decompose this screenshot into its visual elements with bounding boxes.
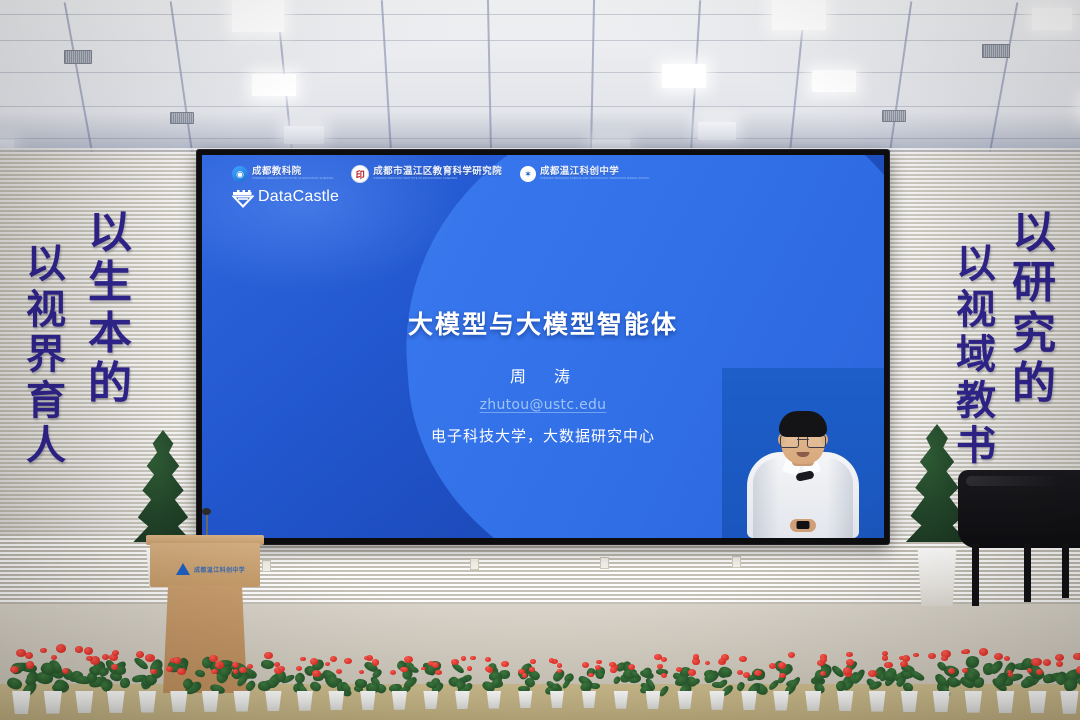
flower-leaf <box>908 668 925 682</box>
potted-flower <box>226 637 257 711</box>
wall-text-right-inner: 以研究的 <box>1012 212 1056 404</box>
flower-bloom <box>84 647 93 654</box>
flower-bloom <box>979 648 989 656</box>
flower-bloom <box>312 670 320 677</box>
flower-pot <box>105 691 127 713</box>
lectern-school-name: 成都温江科创中学 <box>194 565 245 574</box>
flower-pot <box>263 691 283 711</box>
flower-pot <box>803 691 823 711</box>
ceiling-panel-seam <box>0 14 1080 15</box>
flower-pot <box>232 691 253 712</box>
wall-character: 的 <box>1012 363 1056 404</box>
flower-bloom <box>963 649 970 655</box>
organizer-logo: ✶成都温江科创中学CHENGDU WENJIANG SCIENCE AND TE… <box>520 166 650 182</box>
ceiling-light-panel <box>232 0 284 32</box>
speaker-figure <box>740 410 866 538</box>
topiary-planter <box>914 550 960 606</box>
flower-pot <box>422 691 441 710</box>
potted-flower <box>703 641 732 709</box>
flower-bloom <box>485 657 491 662</box>
flower-pot <box>200 691 221 712</box>
potted-flower <box>417 643 445 710</box>
flower-bloom <box>846 652 853 657</box>
potted-flower <box>449 643 476 709</box>
potted-flower <box>68 632 102 713</box>
flower-leaf <box>595 671 605 680</box>
flower-bloom <box>529 667 535 672</box>
ceiling-panel-seam <box>0 40 1080 41</box>
flower-pot <box>327 691 347 711</box>
flower-pot <box>962 691 984 713</box>
organizer-logo: 印成都市温江区教育科学研究院CHENGDU WENJIANG INSTITUTE… <box>351 165 502 183</box>
flower-pot <box>708 691 727 710</box>
seal-icon: 印 <box>351 165 369 183</box>
flower-bloom <box>215 663 220 668</box>
flower-bloom <box>721 654 729 661</box>
wall-outlet <box>262 560 271 572</box>
flower-pot <box>548 691 565 708</box>
slide-title: 大模型与大模型智能体 <box>202 305 884 341</box>
flower-leaf <box>260 659 275 671</box>
flower-bloom <box>1073 653 1080 661</box>
flower-pot <box>739 691 758 710</box>
flower-bloom <box>421 667 426 671</box>
piano-highlight <box>966 476 1062 486</box>
flower-bloom <box>264 652 272 659</box>
potted-flower <box>1052 631 1080 713</box>
flower-bloom <box>882 655 888 660</box>
ceiling-light-panel <box>662 64 706 88</box>
potted-flower <box>353 641 382 710</box>
led-screen-surface: ◉成都教科院CHENGDU RESEARCH INSTITUTE OF EDUC… <box>202 155 884 538</box>
ceiling-air-vent <box>64 50 92 64</box>
potted-flower <box>131 634 164 712</box>
flower-pot <box>612 691 630 709</box>
flower-bloom <box>239 667 247 673</box>
flower-pot <box>771 691 791 711</box>
flower-bloom <box>136 651 145 658</box>
grand-piano <box>958 470 1080 620</box>
wall-character: 育 <box>26 383 66 421</box>
wall-outlet <box>600 557 609 569</box>
ceiling-light-panel <box>772 0 826 30</box>
flower-bloom <box>530 659 536 664</box>
wall-character: 以 <box>88 212 132 253</box>
lectern-logo: 成都温江科创中学 <box>176 563 245 575</box>
potted-flower <box>36 632 70 714</box>
flower-pot <box>485 691 503 709</box>
flower-bloom <box>962 668 968 673</box>
flower-bloom <box>336 669 342 674</box>
wall-character: 究 <box>1012 313 1056 354</box>
flower-bloom <box>233 669 238 673</box>
potted-flower <box>258 638 288 711</box>
triangle-logo-icon <box>176 563 190 575</box>
potted-flower <box>798 639 828 711</box>
potted-flower <box>385 642 413 710</box>
wall-text-left-outer: 以视界育人 <box>26 246 66 466</box>
organizer-name-cn: 成都市温江区教育科学研究院 <box>373 167 502 177</box>
flower-bloom <box>26 661 35 668</box>
flower-pot <box>41 691 64 714</box>
potted-flower <box>163 635 195 712</box>
flower-pot <box>580 691 598 709</box>
flower-bloom <box>102 654 109 660</box>
flower-bloom <box>705 661 710 665</box>
flower-bloom <box>994 653 1003 661</box>
organizer-name-en: CHENGDU WENJIANG INSTITUTE OF EDUCATIONA… <box>373 178 502 180</box>
wall-outlet <box>470 558 479 570</box>
flower-pot <box>994 691 1016 713</box>
flower-pot <box>358 691 377 710</box>
flower-bloom <box>743 672 750 678</box>
flower-bloom <box>112 650 119 656</box>
flower-bloom <box>177 668 186 675</box>
shield-icon: ✶ <box>520 166 536 182</box>
potted-flower <box>322 640 351 711</box>
presentation-clicker-icon <box>797 521 810 529</box>
speaker-mouth <box>797 452 810 457</box>
flower-bloom <box>25 652 33 659</box>
flower-bloom <box>209 655 218 663</box>
piano-leg <box>972 544 979 606</box>
flower-pot <box>1026 691 1049 714</box>
flower-bloom <box>470 656 475 660</box>
wall-outlet <box>732 556 741 568</box>
wall-character: 域 <box>956 337 996 375</box>
microphone-icon <box>202 508 211 515</box>
flower-bloom <box>404 656 413 663</box>
wall-character: 视 <box>26 292 66 330</box>
flower-bloom <box>435 670 441 675</box>
ceiling-light-panel <box>252 74 296 96</box>
flower-bloom <box>868 670 877 677</box>
organizer-name-cn: 成都教科院 <box>252 167 333 177</box>
flower-bloom <box>364 656 369 660</box>
wall-character: 本 <box>88 313 132 354</box>
flower-bloom <box>150 669 157 674</box>
flower-bloom <box>913 653 919 658</box>
flower-bloom <box>928 653 936 659</box>
flower-bloom <box>344 658 352 664</box>
flower-bloom <box>778 662 786 669</box>
topiary-foliage <box>126 430 200 542</box>
flower-bloom <box>900 661 908 667</box>
flower-bloom <box>846 659 854 666</box>
piano-leg <box>1024 544 1031 602</box>
wall-character: 人 <box>26 428 66 466</box>
ceiling-air-vent <box>982 44 1010 58</box>
flower-pot <box>136 691 158 713</box>
potted-flower <box>989 633 1022 713</box>
wall-character: 以 <box>26 246 66 284</box>
wall-character: 以 <box>1012 212 1056 253</box>
flower-pot <box>931 691 952 712</box>
flower-leaf <box>6 675 24 692</box>
flower-bloom <box>173 657 182 664</box>
lectern-front-panel: 成都温江科创中学 <box>150 543 260 587</box>
ceiling-shadow <box>0 112 1080 152</box>
wall-character: 以 <box>956 246 996 284</box>
flower-leaf <box>658 684 671 697</box>
flower-bloom <box>1043 659 1051 666</box>
potted-flower <box>830 638 861 712</box>
wall-character: 教 <box>956 383 996 421</box>
flower-pot <box>899 691 920 712</box>
flower-bloom <box>657 664 663 669</box>
datacastle-castle-icon <box>232 188 252 206</box>
datacastle-wordmark: DataCastle <box>258 188 339 206</box>
flower-bloom <box>788 652 795 658</box>
ceiling <box>0 0 1080 152</box>
ceiling-panel-seam <box>0 106 1080 107</box>
flower-bloom <box>451 659 458 665</box>
flower-leaf <box>244 679 257 692</box>
potted-flower <box>671 642 699 709</box>
potted-flower <box>99 633 132 713</box>
flower-pot <box>295 691 315 711</box>
flower-bloom <box>402 667 408 672</box>
speaker-video-feed <box>722 368 884 538</box>
presentation-slide: ◉成都教科院CHENGDU RESEARCH INSTITUTE OF EDUC… <box>202 155 884 538</box>
flower-bloom <box>296 666 302 671</box>
flower-bloom <box>654 654 662 661</box>
organizer-name-cn: 成都温江科创中学 <box>540 167 650 177</box>
flower-bloom <box>51 655 57 660</box>
flower-leaf <box>735 680 746 691</box>
flower-bloom <box>1031 658 1041 666</box>
flower-bloom <box>310 658 318 665</box>
led-screen[interactable]: ◉成都教科院CHENGDU RESEARCH INSTITUTE OF EDUC… <box>197 150 889 544</box>
flower-pot <box>517 691 535 709</box>
flower-bloom <box>754 670 762 677</box>
flower-bloom <box>549 658 554 662</box>
flower-bloom <box>843 667 852 674</box>
flower-bloom <box>610 667 617 673</box>
flower-bloom <box>359 670 364 674</box>
potted-flower <box>480 644 507 708</box>
flower-bloom <box>588 673 594 678</box>
potted-flower <box>4 631 39 714</box>
potted-flower <box>195 636 227 712</box>
organizer-logo: ◉成都教科院CHENGDU RESEARCH INSTITUTE OF EDUC… <box>232 166 333 182</box>
potted-flower <box>1020 632 1054 713</box>
wall-character: 研 <box>1012 262 1056 303</box>
flower-bloom <box>941 656 948 662</box>
flower-bloom <box>948 668 955 674</box>
flower-bloom <box>166 666 173 672</box>
wall-character: 生 <box>88 262 132 303</box>
flower-bloom <box>820 657 827 663</box>
flower-bloom <box>1056 661 1063 667</box>
flower-bloom <box>372 659 380 665</box>
potted-flower <box>766 640 796 711</box>
speaker-hair <box>779 411 827 437</box>
piano-cover <box>958 470 1080 548</box>
shirt-shade-right <box>827 458 853 538</box>
potted-flower <box>862 637 893 712</box>
flower-pot <box>1058 691 1080 714</box>
flower-pot <box>644 691 662 709</box>
flower-bloom <box>522 673 527 677</box>
flower-bloom <box>330 656 337 662</box>
flower-bloom <box>1027 668 1033 673</box>
potted-flower <box>290 639 320 711</box>
flower-bloom <box>884 662 892 669</box>
flower-bloom <box>693 654 700 659</box>
organizer-logo-bar: ◉成都教科院CHENGDU RESEARCH INSTITUTE OF EDUC… <box>232 165 650 183</box>
flower-bloom <box>688 669 696 676</box>
potted-flower <box>925 635 957 712</box>
ceiling-light-panel <box>812 70 856 92</box>
flower-pot <box>390 691 409 710</box>
flower-bloom <box>1055 654 1064 661</box>
flower-bloom <box>676 667 682 672</box>
potted-flower <box>639 643 666 709</box>
flower-pot <box>73 691 95 713</box>
shirt-shade-left <box>753 458 779 538</box>
organizer-name-en: CHENGDU WENJIANG SCIENCE AND TECHNOLOGY … <box>540 178 650 180</box>
flower-bloom <box>300 657 306 662</box>
flower-leaf <box>718 665 734 679</box>
flower-bloom <box>432 662 439 668</box>
wall-character: 的 <box>88 363 132 404</box>
flower-bloom <box>882 651 888 656</box>
flower-leaf <box>194 668 206 679</box>
flower-bloom <box>557 663 563 668</box>
flower-bloom <box>325 662 330 666</box>
potted-flower <box>512 645 538 708</box>
flower-bloom <box>582 662 589 668</box>
potted-flower <box>608 644 635 709</box>
datacastle-brand: DataCastle <box>232 188 339 206</box>
flower-pot <box>10 691 33 714</box>
flower-bloom <box>661 657 667 662</box>
ceiling-light-panel <box>1032 8 1072 30</box>
flower-pot <box>867 691 888 712</box>
lecture-hall-photo: 以视界育人 以生本的 以研究的 以视域教书 ◉成都教科院CHENGDU RESE… <box>0 0 1080 720</box>
globe-icon: ◉ <box>232 166 248 182</box>
flower-bloom <box>467 666 472 670</box>
organizer-name-en: CHENGDU RESEARCH INSTITUTE OF EDUCATION … <box>252 178 333 180</box>
flower-bloom <box>211 669 218 675</box>
piano-leg <box>1062 544 1069 598</box>
flower-bloom <box>75 646 83 652</box>
flower-pot <box>676 691 695 710</box>
flower-bloom <box>390 670 397 675</box>
flower-leaf <box>1021 678 1033 688</box>
flower-bloom <box>595 665 601 670</box>
flower-bloom <box>461 656 466 660</box>
flower-leaf <box>561 678 572 690</box>
flower-bloom <box>56 644 66 652</box>
flower-pot <box>168 691 189 712</box>
potted-flower <box>544 646 570 708</box>
flower-leaf <box>258 680 272 692</box>
flower-pot <box>453 691 471 709</box>
flower-leaf <box>1063 678 1078 692</box>
flower-row <box>0 618 1080 720</box>
flower-bloom <box>596 660 602 665</box>
flower-bloom <box>111 664 118 670</box>
potted-flower <box>893 636 925 712</box>
wall-character: 视 <box>956 292 996 330</box>
flower-bloom <box>739 656 747 662</box>
flower-bloom <box>40 648 47 654</box>
potted-flower <box>735 640 764 710</box>
flower-pot <box>835 691 855 711</box>
flower-bloom <box>1004 656 1010 661</box>
flower-bloom <box>1076 666 1080 674</box>
ceiling-panel-seam <box>0 72 1080 73</box>
microphone-stand <box>206 513 208 537</box>
flower-bloom <box>501 661 508 667</box>
wall-character: 界 <box>26 337 66 375</box>
potted-flower <box>957 634 990 713</box>
flower-bloom <box>661 673 667 678</box>
wall-text-left-inner: 以生本的 <box>88 212 132 404</box>
potted-flower <box>576 645 602 708</box>
flower-bloom <box>247 664 253 669</box>
